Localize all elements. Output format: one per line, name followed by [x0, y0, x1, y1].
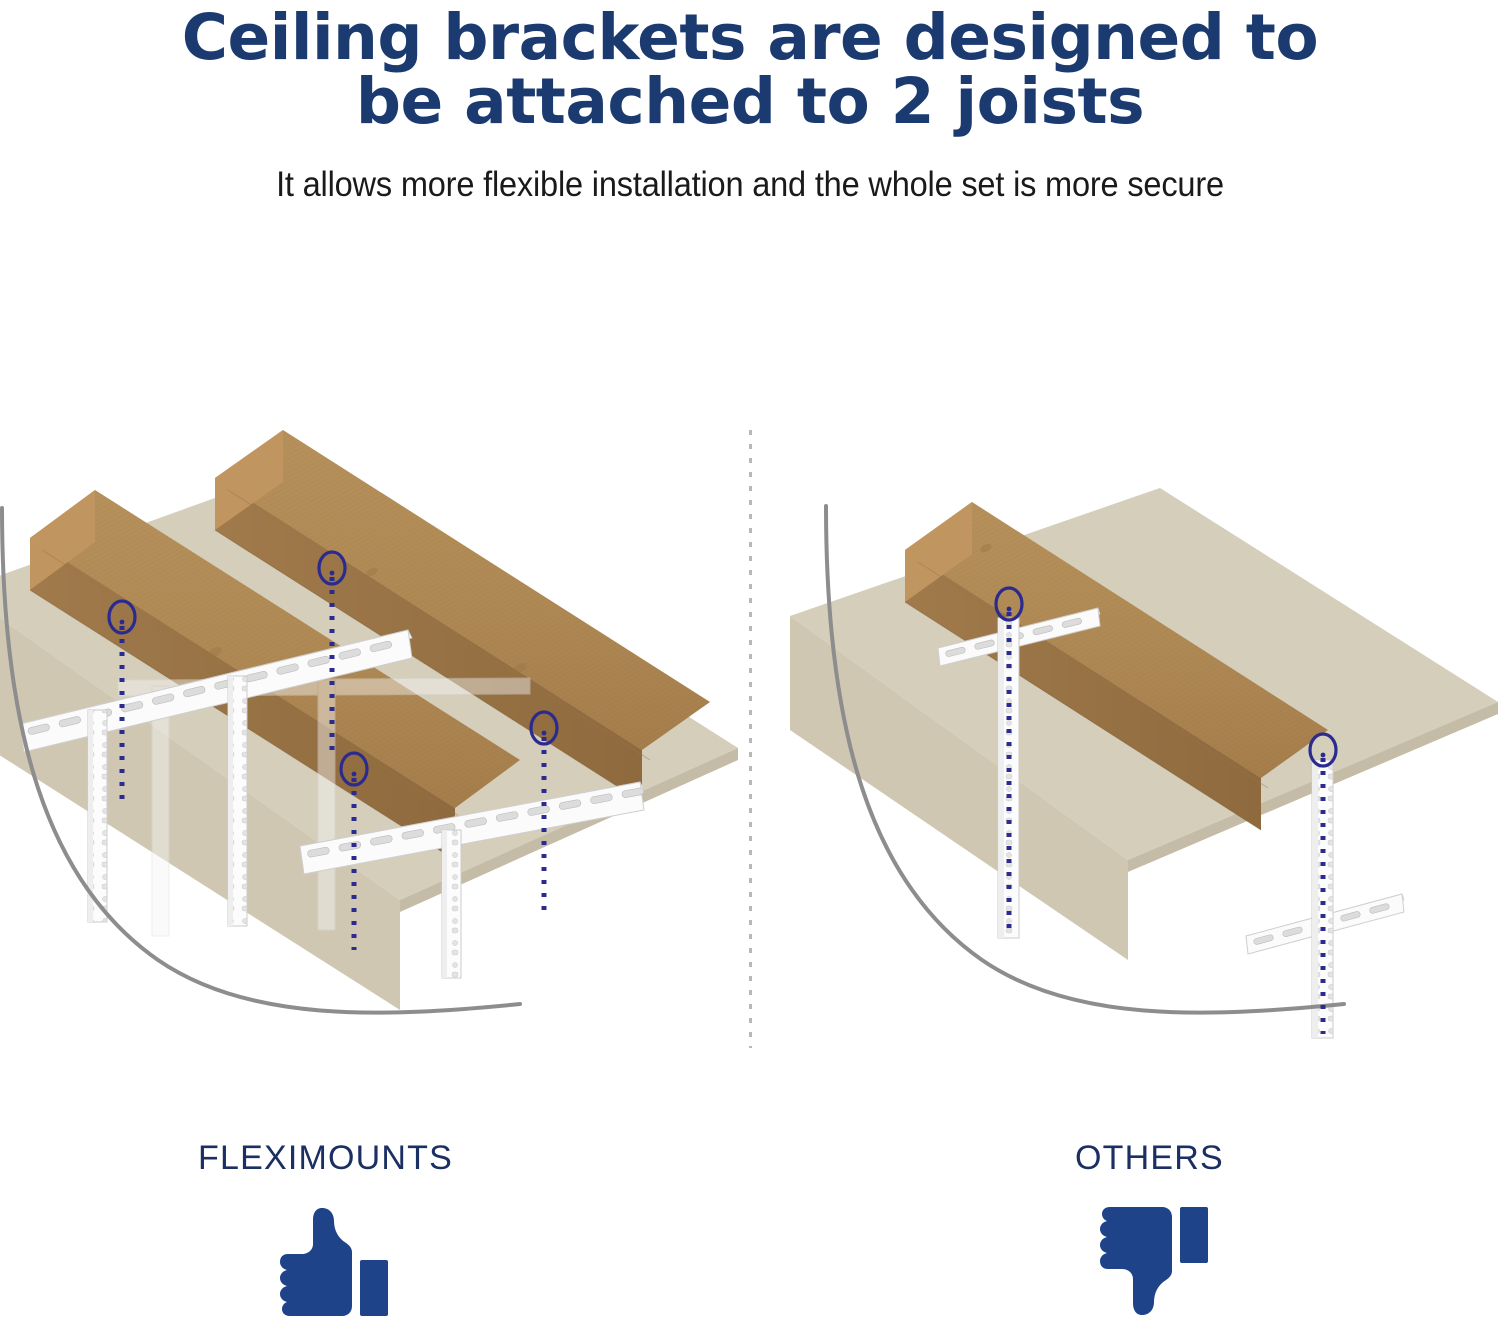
brand-label-fleximounts: FLEXIMOUNTS: [198, 1139, 453, 1178]
ceiling-bracket-post-mid: [228, 676, 247, 926]
thumbs-down-icon: [1088, 1207, 1208, 1319]
page-subtitle: It allows more flexible installation and…: [53, 135, 1448, 205]
page-title: Ceiling brackets are designed to be atta…: [0, 0, 1500, 135]
others-illustration: [750, 430, 1500, 1070]
ceiling-bracket-post-lower: [1312, 760, 1333, 1038]
ceiling-bracket-post-left: [88, 710, 107, 922]
comparison-infographic: Ceiling brackets are designed to be atta…: [0, 0, 1500, 1326]
brand-label-others: OTHERS: [1075, 1139, 1224, 1178]
ceiling-bracket-post-lower: [442, 830, 461, 978]
thumbs-up-icon: [272, 1204, 392, 1316]
header: Ceiling brackets are designed to be atta…: [0, 0, 1500, 205]
fleximounts-illustration: [0, 430, 750, 1070]
